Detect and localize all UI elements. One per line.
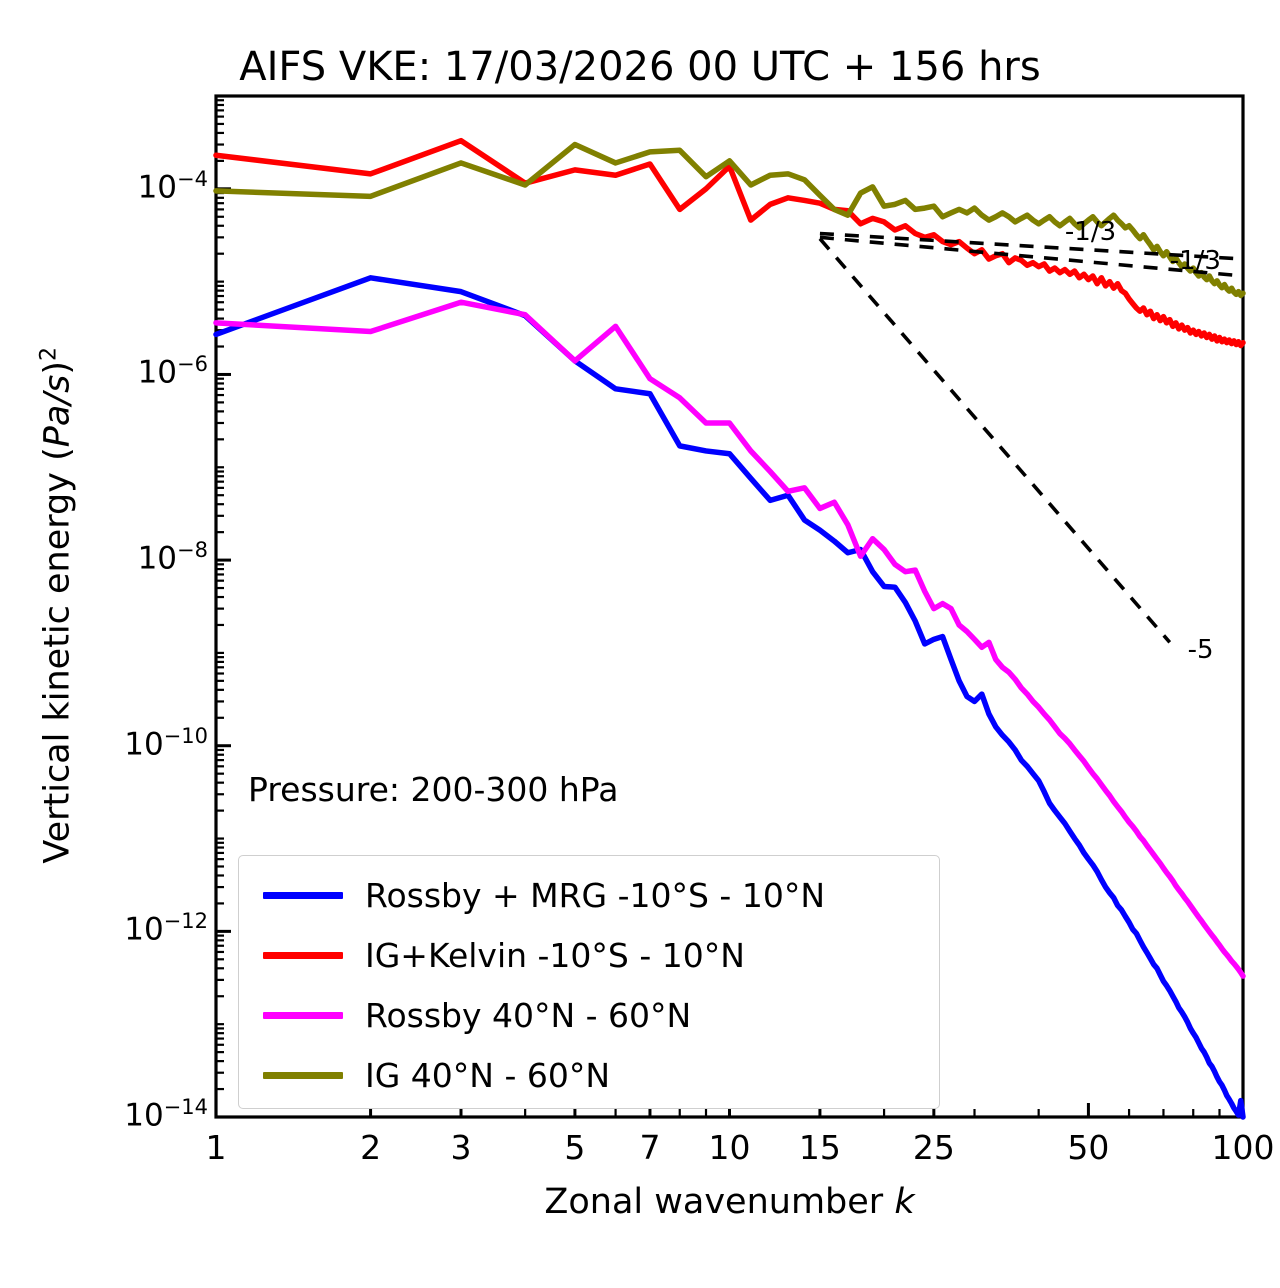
legend-swatch-1: [263, 952, 343, 959]
legend-item-0[interactable]: Rossby + MRG -10°S - 10°N: [263, 864, 825, 927]
legend-item-2[interactable]: Rossby 40°N - 60°N: [263, 984, 691, 1047]
chart-root: AIFS VKE: 17/03/2026 00 UTC + 156 hrs Ve…: [0, 0, 1280, 1288]
reference-line-2: [820, 239, 1170, 643]
legend-label-2: Rossby 40°N - 60°N: [365, 996, 691, 1035]
legend-swatch-2: [263, 1012, 343, 1019]
slope-label-minus5: -5: [1188, 635, 1214, 665]
legend-label-3: IG 40°N - 60°N: [365, 1056, 610, 1095]
legend-label-0: Rossby + MRG -10°S - 10°N: [365, 876, 825, 915]
legend-swatch-3: [263, 1072, 343, 1079]
legend-item-1[interactable]: IG+Kelvin -10°S - 10°N: [263, 924, 745, 987]
legend-item-3[interactable]: IG 40°N - 60°N: [263, 1044, 610, 1107]
legend-swatch-0: [263, 892, 343, 899]
legend[interactable]: Rossby + MRG -10°S - 10°NIG+Kelvin -10°S…: [238, 855, 940, 1109]
pressure-annotation: Pressure: 200-300 hPa: [248, 770, 618, 809]
legend-label-1: IG+Kelvin -10°S - 10°N: [365, 936, 745, 975]
slope-label-upper: -1/3: [1065, 217, 1116, 247]
slope-label-lower: -1/3: [1170, 246, 1221, 276]
